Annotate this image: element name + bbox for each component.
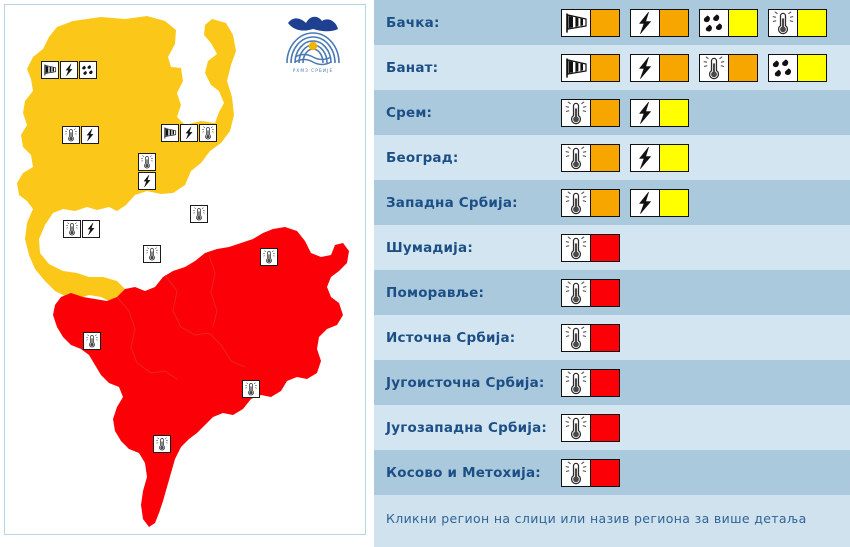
warning-badge[interactable] bbox=[630, 9, 689, 37]
map-icon-cluster-zapadna-srbija[interactable] bbox=[63, 220, 100, 238]
thermometer-icon bbox=[260, 248, 278, 266]
thermometer-icon bbox=[562, 280, 591, 306]
warning-level-swatch bbox=[591, 10, 619, 36]
warning-badge[interactable] bbox=[561, 279, 620, 307]
thermometer-icon bbox=[242, 380, 260, 398]
warning-badge[interactable] bbox=[768, 54, 827, 82]
warning-badge[interactable] bbox=[768, 9, 827, 37]
region-name-label[interactable]: Поморавље: bbox=[386, 285, 561, 301]
warning-badge[interactable] bbox=[561, 324, 620, 352]
thermometer-icon bbox=[562, 325, 591, 351]
thermometer-icon bbox=[562, 415, 591, 441]
region-name-label[interactable]: Југозападна Србија: bbox=[386, 420, 561, 436]
warning-badge[interactable] bbox=[561, 459, 620, 487]
thermometer-icon bbox=[562, 145, 591, 171]
warning-level-swatch bbox=[591, 190, 619, 216]
map-icon-cluster-backa[interactable] bbox=[41, 61, 97, 79]
region-warning-list: Бачка: Банат: bbox=[374, 0, 850, 547]
thermometer-icon bbox=[190, 205, 208, 223]
warning-level-swatch bbox=[591, 370, 619, 396]
rain-icon bbox=[769, 55, 798, 81]
thermometer-icon bbox=[143, 245, 161, 263]
thermometer-icon bbox=[562, 370, 591, 396]
warning-badge[interactable] bbox=[630, 144, 689, 172]
map-icon-cluster-pomoravlje[interactable] bbox=[260, 248, 278, 266]
warning-level-swatch bbox=[660, 145, 688, 171]
warning-badge[interactable] bbox=[630, 54, 689, 82]
region-row[interactable]: Западна Србија: bbox=[374, 180, 850, 225]
warning-badge-group bbox=[561, 369, 620, 397]
thunderstorm-icon bbox=[631, 145, 660, 171]
thermometer-icon bbox=[62, 126, 80, 144]
region-row[interactable]: Источна Србија: bbox=[374, 315, 850, 360]
thunderstorm-icon bbox=[82, 220, 100, 238]
warning-level-swatch bbox=[591, 235, 619, 261]
warning-badge-group bbox=[561, 414, 620, 442]
warning-badge[interactable] bbox=[630, 189, 689, 217]
region-name-label[interactable]: Источна Србија: bbox=[386, 330, 561, 346]
warning-badge-group bbox=[561, 144, 689, 172]
warning-badge-group bbox=[561, 9, 827, 37]
map-region-red bbox=[53, 227, 349, 527]
thunderstorm-icon bbox=[631, 100, 660, 126]
warning-badge-group bbox=[561, 324, 620, 352]
map-icon-cluster-istocna-srbija[interactable] bbox=[83, 332, 101, 350]
warning-badge[interactable] bbox=[630, 99, 689, 127]
warning-level-swatch bbox=[660, 190, 688, 216]
thermometer-icon bbox=[562, 235, 591, 261]
warning-badge[interactable] bbox=[561, 414, 620, 442]
thermometer-icon bbox=[63, 220, 81, 238]
region-name-label[interactable]: Београд: bbox=[386, 150, 561, 166]
region-name-label[interactable]: Срем: bbox=[386, 105, 561, 121]
map-icon-cluster-sumadija[interactable] bbox=[190, 205, 208, 223]
warning-level-swatch bbox=[798, 10, 826, 36]
warning-level-swatch bbox=[660, 55, 688, 81]
warning-badge-group bbox=[561, 459, 620, 487]
warning-badge-group bbox=[561, 99, 689, 127]
map-hint-note: Кликни регион на слици или назив региона… bbox=[374, 495, 850, 542]
map-panel: РХМЗ СРБИЈЕ bbox=[0, 0, 374, 547]
warning-level-swatch bbox=[660, 10, 688, 36]
warning-badge[interactable] bbox=[561, 9, 620, 37]
warning-badge[interactable] bbox=[561, 369, 620, 397]
warning-level-swatch bbox=[591, 145, 619, 171]
map-icon-cluster-jugoistocna-srbija[interactable] bbox=[242, 380, 260, 398]
thunderstorm-icon bbox=[60, 61, 78, 79]
thermometer-icon bbox=[562, 190, 591, 216]
map-icon-cluster-jugozapadna-srbija[interactable] bbox=[143, 245, 161, 263]
rain-icon bbox=[79, 61, 97, 79]
warning-badge[interactable] bbox=[699, 54, 758, 82]
region-row[interactable]: Срем: bbox=[374, 90, 850, 135]
warning-badge[interactable] bbox=[561, 189, 620, 217]
warning-badge-group bbox=[561, 279, 620, 307]
warning-badge-group bbox=[561, 189, 689, 217]
rhmz-serbia-logo: РХМЗ СРБИЈЕ bbox=[283, 14, 343, 74]
region-row[interactable]: Београд: bbox=[374, 135, 850, 180]
warning-level-swatch bbox=[729, 55, 757, 81]
region-name-label[interactable]: Југоисточна Србија: bbox=[386, 375, 561, 391]
region-name-label[interactable]: Западна Србија: bbox=[386, 195, 561, 211]
map-frame: РХМЗ СРБИЈЕ bbox=[4, 4, 366, 535]
thermometer-icon bbox=[562, 460, 591, 486]
thunderstorm-icon bbox=[631, 10, 660, 36]
warning-level-swatch bbox=[591, 460, 619, 486]
warning-badge[interactable] bbox=[561, 54, 620, 82]
warning-level-swatch bbox=[591, 55, 619, 81]
warning-level-swatch bbox=[591, 280, 619, 306]
thermometer-icon bbox=[153, 435, 171, 453]
thunderstorm-icon bbox=[631, 55, 660, 81]
thermometer-icon bbox=[83, 332, 101, 350]
thermometer-icon bbox=[769, 10, 798, 36]
warning-badge[interactable] bbox=[561, 99, 620, 127]
region-row[interactable]: Југозападна Србија: bbox=[374, 405, 850, 450]
warning-badge-group bbox=[561, 54, 827, 82]
region-row[interactable]: Шумадија: bbox=[374, 225, 850, 270]
warning-badge[interactable] bbox=[561, 144, 620, 172]
wind-icon bbox=[41, 61, 59, 79]
region-rows-container: Бачка: Банат: bbox=[374, 0, 850, 495]
warning-badge[interactable] bbox=[561, 234, 620, 262]
region-row[interactable]: Поморавље: bbox=[374, 270, 850, 315]
warning-badge-group bbox=[561, 234, 620, 262]
svg-text:РХМЗ СРБИЈЕ: РХМЗ СРБИЈЕ bbox=[293, 68, 333, 73]
thermometer-icon bbox=[700, 55, 729, 81]
map-icon-cluster-kosovo-i-metohija[interactable] bbox=[153, 435, 171, 453]
wind-icon bbox=[562, 10, 591, 36]
warning-badge[interactable] bbox=[699, 9, 758, 37]
region-name-label[interactable]: Косово и Метохија: bbox=[386, 465, 561, 481]
thermometer-icon bbox=[138, 153, 156, 171]
wind-icon bbox=[562, 55, 591, 81]
weather-warning-page: РХМЗ СРБИЈЕ bbox=[0, 0, 850, 547]
rain-icon bbox=[700, 10, 729, 36]
thermometer-icon bbox=[199, 124, 217, 142]
region-row[interactable]: Банат: bbox=[374, 45, 850, 90]
warning-level-swatch bbox=[660, 100, 688, 126]
thunderstorm-icon bbox=[631, 190, 660, 216]
thunderstorm-icon bbox=[138, 172, 156, 190]
map-icon-cluster-beograd[interactable] bbox=[138, 153, 156, 190]
warning-level-swatch bbox=[591, 325, 619, 351]
warning-level-swatch bbox=[729, 10, 757, 36]
warning-level-swatch bbox=[591, 100, 619, 126]
region-name-label[interactable]: Бачка: bbox=[386, 15, 561, 31]
map-icon-cluster-banat[interactable] bbox=[161, 124, 217, 142]
map-icon-cluster-srem[interactable] bbox=[62, 126, 99, 144]
warning-level-swatch bbox=[798, 55, 826, 81]
thunderstorm-icon bbox=[81, 126, 99, 144]
serbia-warning-map[interactable]: РХМЗ СРБИЈЕ bbox=[5, 5, 365, 534]
region-row[interactable]: Југоисточна Србија: bbox=[374, 360, 850, 405]
warning-level-swatch bbox=[591, 415, 619, 441]
region-row[interactable]: Косово и Метохија: bbox=[374, 450, 850, 495]
region-name-label[interactable]: Банат: bbox=[386, 60, 561, 76]
region-row[interactable]: Бачка: bbox=[374, 0, 850, 45]
region-name-label[interactable]: Шумадија: bbox=[386, 240, 561, 256]
thunderstorm-icon bbox=[180, 124, 198, 142]
wind-icon bbox=[161, 124, 179, 142]
thermometer-icon bbox=[562, 100, 591, 126]
